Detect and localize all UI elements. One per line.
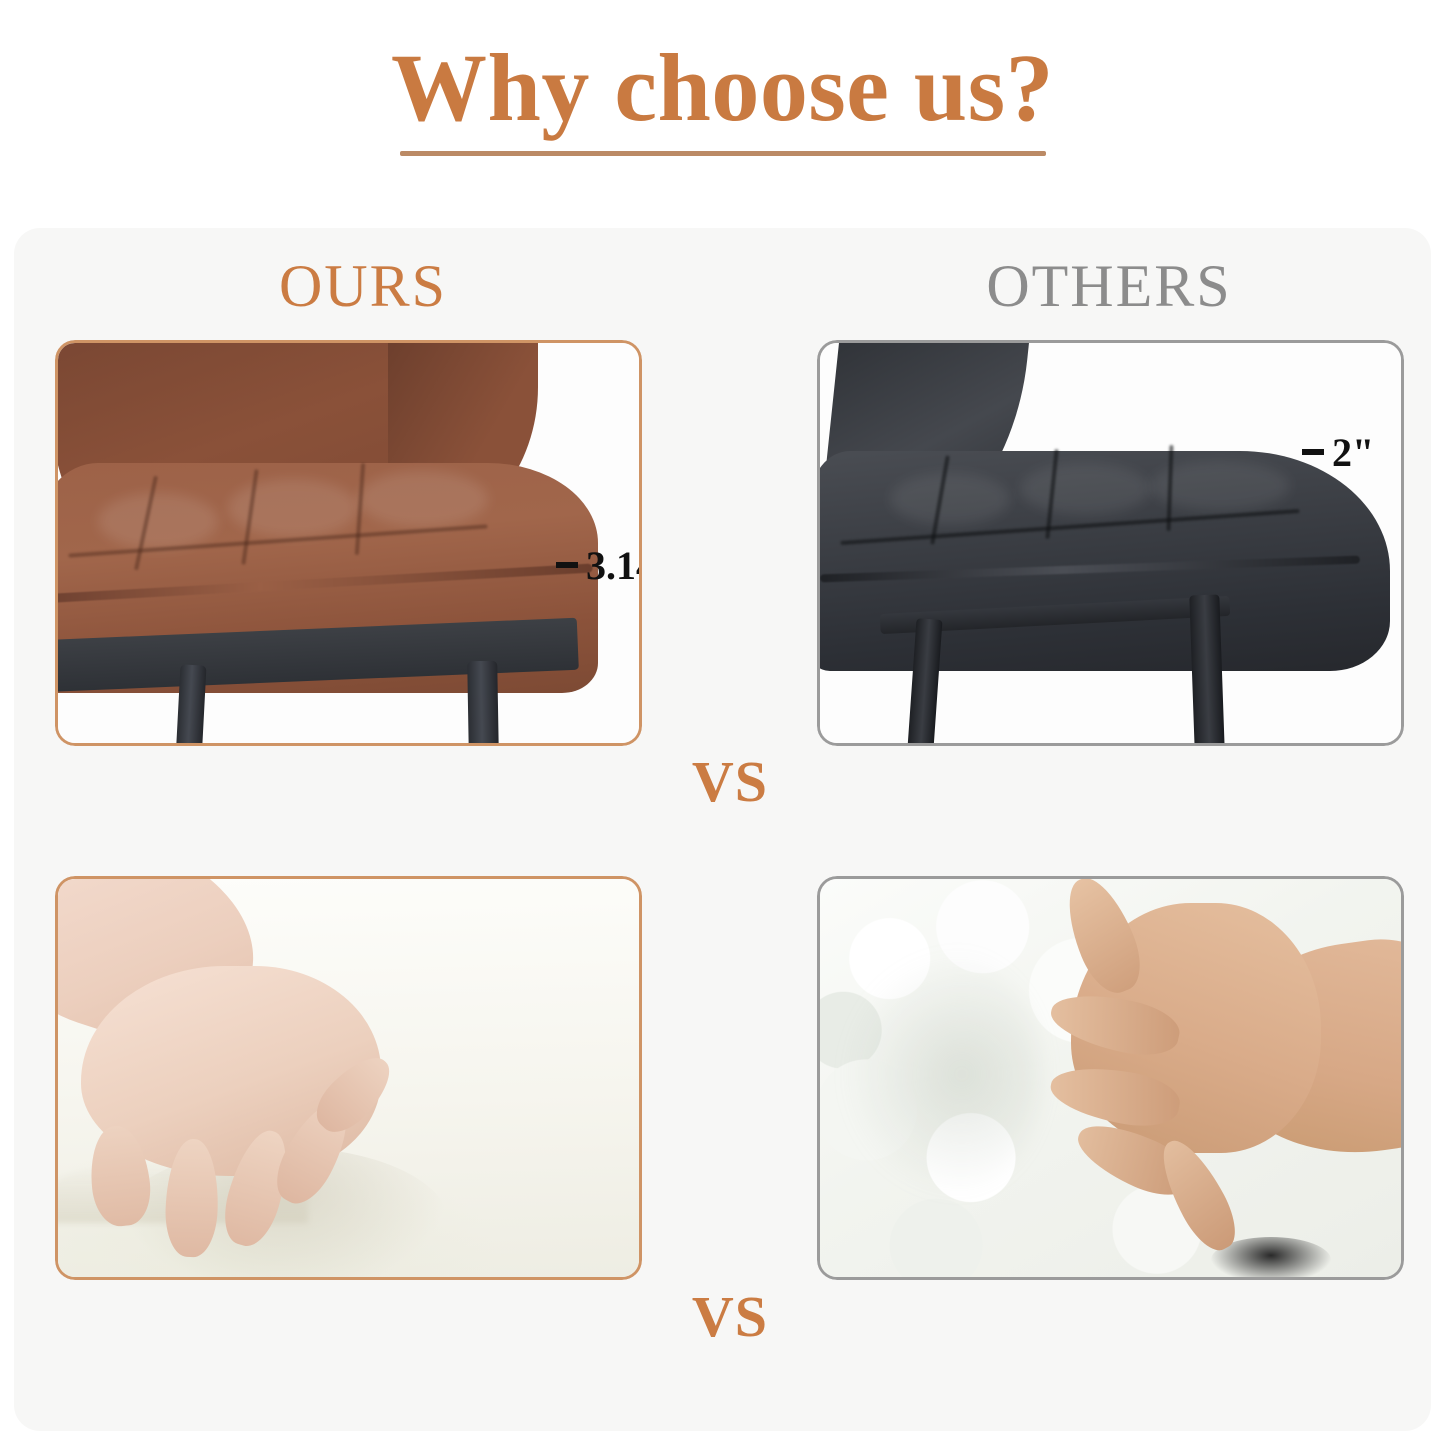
fiber-fill-illustration bbox=[820, 879, 1401, 1277]
photo-ours-cushion: 3.14" bbox=[55, 340, 642, 746]
page-title: Why choose us? bbox=[391, 38, 1054, 139]
panel-ours-sponge: High Density Sponge Sturdy and bouncy bbox=[55, 876, 642, 1280]
dimension-marker-ours-cushion: 3.14" bbox=[556, 515, 642, 615]
panel-others-sponge: Thin Spliced Sponge Flexible and lightwe… bbox=[817, 876, 1404, 1280]
panel-others-cushion: Thin Cushion Thin: Less padding, flatter… bbox=[817, 340, 1404, 746]
photo-others-sponge bbox=[817, 876, 1404, 1280]
photo-others-cushion bbox=[817, 340, 1404, 746]
title-divider bbox=[400, 151, 1046, 156]
hand-illustration bbox=[55, 876, 476, 1251]
column-header-others: OTHERS bbox=[814, 252, 1404, 321]
high-density-foam-illustration bbox=[58, 879, 639, 1277]
dimension-value-others: 2" bbox=[1332, 429, 1374, 476]
dark-chair-illustration bbox=[820, 343, 1401, 743]
vs-label-row-1: VS bbox=[650, 748, 810, 815]
dimension-value-ours: 3.14" bbox=[586, 542, 642, 589]
column-headers: OURS OTHERS bbox=[14, 252, 1431, 338]
hand-illustration bbox=[1001, 876, 1404, 1263]
dimension-marker-others-cushion: 2" bbox=[1302, 416, 1374, 488]
column-header-ours: OURS bbox=[68, 252, 658, 321]
photo-ours-sponge bbox=[55, 876, 642, 1280]
brown-chair-illustration bbox=[58, 343, 639, 743]
panel-ours-cushion: 3.14" Thickened Cushion More padding, mo… bbox=[55, 340, 642, 746]
vs-label-row-2: VS bbox=[650, 1283, 810, 1350]
page-header: Why choose us? bbox=[0, 0, 1445, 228]
comparison-card: OURS OTHERS bbox=[14, 228, 1431, 1431]
